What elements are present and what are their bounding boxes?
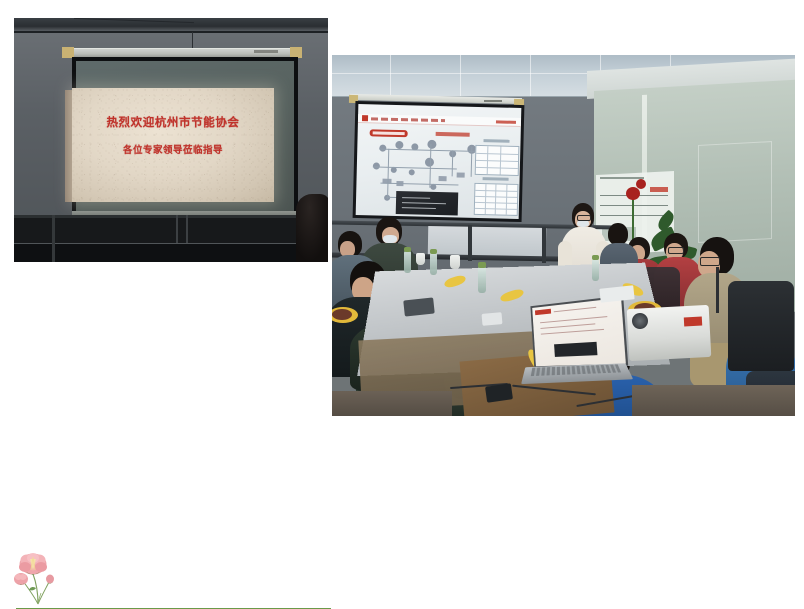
screen-stand-right bbox=[186, 215, 188, 243]
face-mask bbox=[577, 220, 589, 227]
glasses-icon bbox=[577, 215, 591, 221]
slide-page: 热烈欢迎杭州市节能协会 各位专家领导莅临指导 bbox=[0, 0, 804, 416]
wall-chart-badge bbox=[650, 187, 668, 192]
floor bbox=[332, 391, 452, 416]
flower-icon bbox=[12, 548, 68, 606]
diagram-node bbox=[409, 169, 415, 175]
housing-label bbox=[254, 50, 278, 53]
water-bottle bbox=[592, 259, 599, 281]
slide-data-table bbox=[475, 145, 520, 176]
diagram-link bbox=[452, 150, 454, 176]
wall-chart-line bbox=[600, 215, 668, 216]
wall-post-1 bbox=[52, 215, 55, 262]
diagram-block bbox=[439, 176, 447, 181]
ceiling-grid-line bbox=[390, 55, 391, 97]
rose-flower bbox=[626, 187, 640, 200]
projector-label bbox=[684, 317, 702, 327]
paper-cup bbox=[416, 253, 425, 265]
ceiling-grid-line bbox=[460, 55, 461, 97]
glasses-icon bbox=[668, 247, 684, 254]
slide-table-caption bbox=[483, 177, 509, 181]
diagram-link bbox=[380, 183, 458, 186]
diagram-block bbox=[457, 172, 465, 177]
welcome-headline: 热烈欢迎杭州市节能协会 bbox=[72, 114, 274, 130]
rose-stem bbox=[632, 195, 634, 241]
bottle-cap bbox=[404, 247, 411, 252]
screen-housing-label bbox=[484, 100, 502, 102]
tablet-device bbox=[403, 297, 435, 316]
ceiling-edge-line bbox=[14, 31, 328, 33]
ceiling-grid-line bbox=[530, 55, 531, 97]
laptop-slide-logo bbox=[535, 309, 551, 315]
fruit-bowl-contents bbox=[332, 309, 352, 320]
water-bottle bbox=[430, 253, 437, 275]
wall-chart-line bbox=[600, 205, 668, 206]
projector-welcome-photo: 热烈欢迎杭州市节能协会 各位专家领导莅临指导 bbox=[14, 18, 328, 262]
glasses-icon bbox=[700, 257, 720, 266]
slide-photo-inset bbox=[396, 191, 459, 216]
diagram-link bbox=[379, 149, 475, 152]
welcome-subline: 各位专家领导莅临指导 bbox=[72, 142, 274, 156]
conference-room-photo bbox=[332, 55, 795, 416]
wall-rail bbox=[14, 215, 328, 218]
slide-logo bbox=[362, 115, 368, 121]
bottle-cap bbox=[430, 249, 437, 254]
laptop-screen[interactable] bbox=[530, 295, 628, 368]
lanyard bbox=[716, 267, 719, 313]
rail-post bbox=[542, 227, 546, 263]
wall-chart-title bbox=[600, 177, 644, 179]
person-head bbox=[608, 223, 628, 245]
bottle-cap bbox=[592, 255, 599, 260]
window-light bbox=[428, 226, 547, 258]
rose-flower bbox=[636, 179, 646, 189]
silhouette-person bbox=[296, 194, 328, 262]
floor bbox=[632, 385, 795, 416]
rail-post bbox=[468, 225, 472, 261]
slide-subtitle bbox=[436, 132, 470, 137]
decoration-area bbox=[0, 272, 340, 334]
screen-stand-left bbox=[176, 215, 178, 243]
slide-data-table bbox=[474, 183, 519, 216]
glass-panel-outline bbox=[698, 141, 772, 243]
diagram-link bbox=[373, 166, 457, 169]
diagram-link bbox=[471, 147, 473, 177]
diagram-link bbox=[387, 149, 389, 199]
paper-cup bbox=[450, 255, 460, 269]
dark-band-upper bbox=[14, 217, 328, 243]
water-bottle bbox=[404, 251, 411, 273]
face-mask bbox=[383, 235, 397, 243]
slide-table-caption bbox=[483, 139, 509, 143]
diagram-node bbox=[395, 141, 403, 149]
bottle-cap bbox=[478, 262, 486, 268]
projection-screen bbox=[356, 104, 522, 219]
water-bottle bbox=[478, 267, 486, 293]
paper-note bbox=[482, 312, 503, 326]
laptop-slide-photo bbox=[554, 342, 597, 357]
office-chair bbox=[728, 281, 794, 371]
diagram-node bbox=[427, 140, 436, 149]
dark-band-lower bbox=[14, 244, 328, 262]
slide-header-right-label bbox=[496, 120, 516, 123]
